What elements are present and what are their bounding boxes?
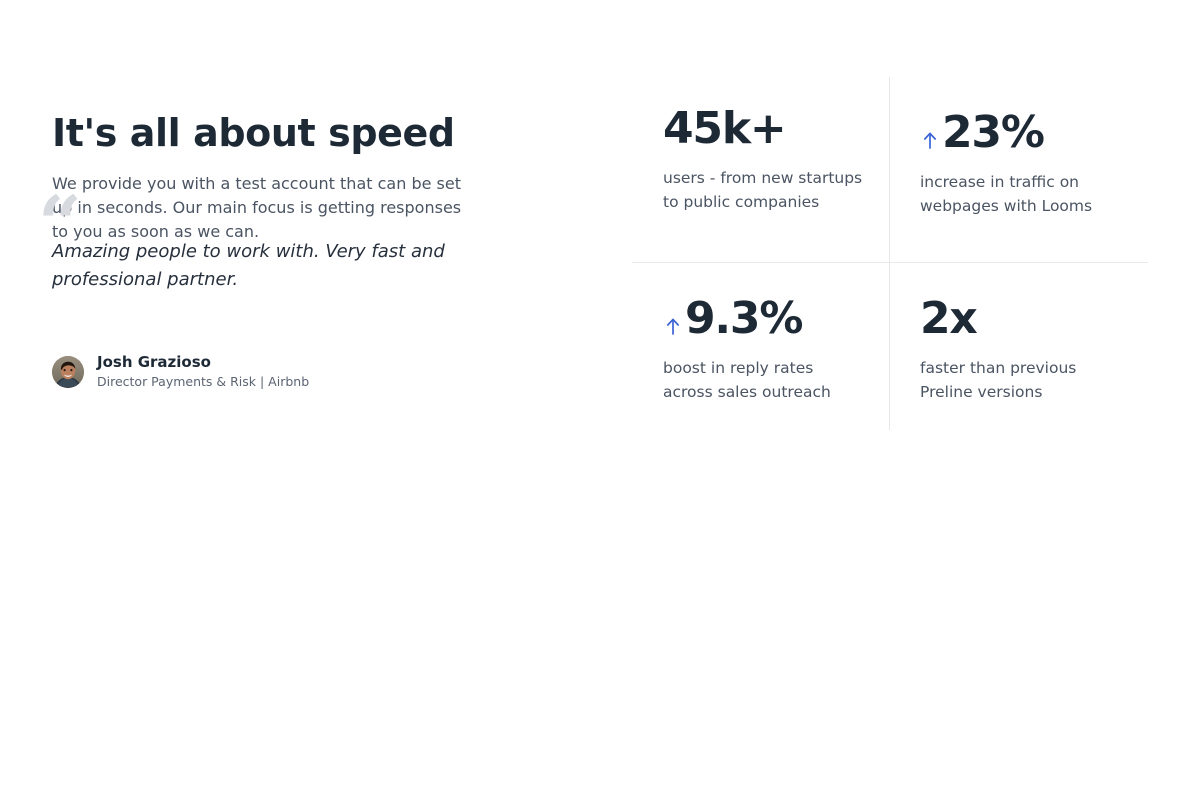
stat-label: faster than previous Preline versions <box>920 356 1120 404</box>
arrow-up-icon <box>920 129 940 151</box>
testimonial-author: Josh Grazioso Director Payments & Risk |… <box>52 353 309 390</box>
author-role: Director Payments & Risk | Airbnb <box>97 373 309 390</box>
testimonial-quote-block: “ Amazing people to work with. Very fast… <box>52 238 472 294</box>
stat-label: boost in reply rates across sales outrea… <box>663 356 863 404</box>
stat-card-speed: 2x faster than previous Preline versions <box>920 293 1165 404</box>
stat-label: users - from new startups to public comp… <box>663 166 863 214</box>
testimonial-quote-text: Amazing people to work with. Very fast a… <box>52 238 452 294</box>
avatar <box>52 356 84 388</box>
stat-card-reply-rate: 9.3% boost in reply rates across sales o… <box>663 293 908 404</box>
stat-value: 45k+ <box>663 103 786 155</box>
stat-value: 9.3% <box>685 293 802 345</box>
stat-value-row: 23% <box>920 107 1165 159</box>
author-meta: Josh Grazioso Director Payments & Risk |… <box>97 353 309 390</box>
stat-value: 2x <box>920 293 977 345</box>
stat-value-row: 45k+ <box>663 103 908 155</box>
arrow-up-icon <box>663 315 683 337</box>
author-name: Josh Grazioso <box>97 353 309 372</box>
stat-value: 23% <box>942 107 1044 159</box>
stats-testimonial-section: It's all about speed We provide you with… <box>0 0 1200 800</box>
intro-column: It's all about speed We provide you with… <box>52 110 472 244</box>
stat-card-users: 45k+ users - from new startups to public… <box>663 103 908 214</box>
intro-paragraph: We provide you with a test account that … <box>52 172 464 244</box>
stat-value-row: 2x <box>920 293 1165 345</box>
stat-label: increase in traffic on webpages with Loo… <box>920 170 1120 218</box>
stat-card-traffic: 23% increase in traffic on webpages with… <box>920 107 1165 218</box>
grid-horizontal-divider <box>632 262 1148 263</box>
page-title: It's all about speed <box>52 110 472 156</box>
stats-grid: 45k+ users - from new startups to public… <box>632 77 1148 430</box>
stat-value-row: 9.3% <box>663 293 908 345</box>
